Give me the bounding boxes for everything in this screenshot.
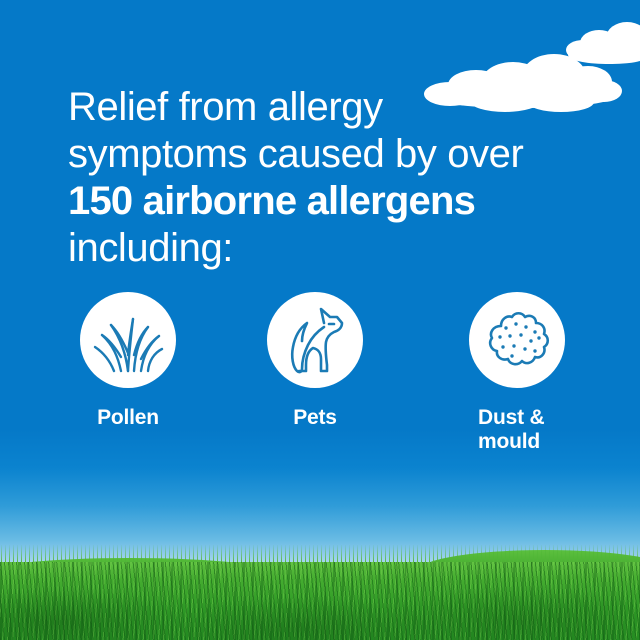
headline-line-4: including: xyxy=(68,225,588,272)
cloud-icon xyxy=(566,22,640,66)
allergen-label-pets: Pets xyxy=(230,406,400,430)
dust-specks xyxy=(498,322,540,357)
allergen-icon-row: Pollen Pets xyxy=(0,292,640,492)
icon-disc-pollen xyxy=(80,292,176,388)
allergen-item-pets: Pets xyxy=(230,292,400,430)
headline-line-2: symptoms caused by over xyxy=(68,131,588,178)
headline: Relief from allergy symptoms caused by o… xyxy=(68,84,588,272)
cat-icon xyxy=(280,303,350,377)
headline-line-3-bold: 150 airborne allergens xyxy=(68,178,588,225)
icon-disc-pets xyxy=(267,292,363,388)
grass-field xyxy=(0,545,640,640)
grass-icon xyxy=(91,305,165,375)
dust-ball-icon xyxy=(481,308,553,372)
allergen-item-dust: Dust & mould xyxy=(432,292,602,454)
promo-poster: Relief from allergy symptoms caused by o… xyxy=(0,0,640,640)
headline-line-1: Relief from allergy xyxy=(68,84,588,131)
allergen-item-pollen: Pollen xyxy=(43,292,213,430)
grass-shading xyxy=(0,562,640,640)
icon-disc-dust xyxy=(469,292,565,388)
allergen-label-dust: Dust & mould xyxy=(432,406,602,454)
allergen-label-pollen: Pollen xyxy=(43,406,213,430)
